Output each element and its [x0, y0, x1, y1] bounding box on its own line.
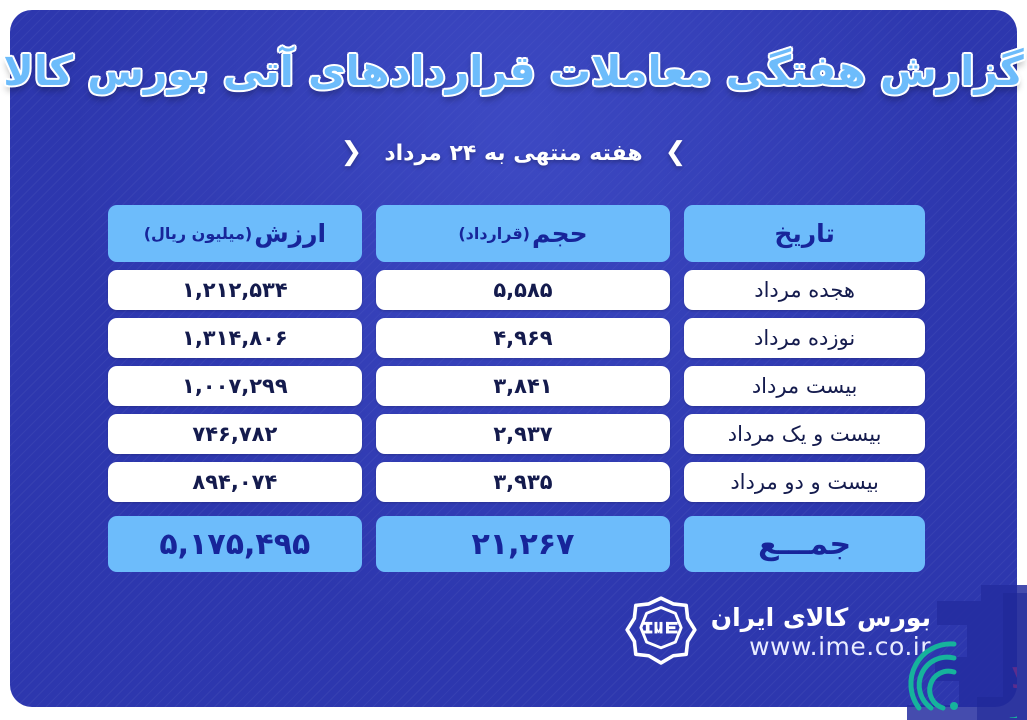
column-header-date: تاریخ: [684, 205, 925, 262]
column-header-value-unit: (میلیون ریال): [144, 224, 253, 243]
table-row: نوزده مرداد ۴,۹۶۹ ۱,۳۱۴,۸۰۶: [108, 318, 925, 358]
cell-value: ۷۴۶,۷۸۲: [108, 414, 362, 454]
cell-value: ۱,۳۱۴,۸۰۶: [108, 318, 362, 358]
cell-date: نوزده مرداد: [684, 318, 925, 358]
chevron-right-icon: ❯: [665, 139, 687, 165]
column-header-value: ارزش (میلیون ریال): [108, 205, 362, 262]
table-header-row: تاریخ حجم (قرارداد) ارزش (میلیون ریال): [108, 205, 925, 262]
report-table: تاریخ حجم (قرارداد) ارزش (میلیون ریال) ه…: [108, 205, 925, 572]
column-header-volume-unit: (قرارداد): [458, 224, 530, 243]
cell-value: ۸۹۴,۰۷۴: [108, 462, 362, 502]
footer-text-block: بورس کالای ایران www.ime.co.ir: [711, 603, 931, 662]
table-row: بیست مرداد ۳,۸۴۱ ۱,۰۰۷,۲۹۹: [108, 366, 925, 406]
page-subtitle: هفته منتهی به ۲۴ مرداد: [384, 141, 642, 166]
cell-date: بیست مرداد: [684, 366, 925, 406]
organization-name: بورس کالای ایران: [711, 603, 931, 633]
cell-date: بیست و دو مرداد: [684, 462, 925, 502]
cell-volume: ۲,۹۳۷: [376, 414, 671, 454]
cell-volume: ۳,۹۳۵: [376, 462, 671, 502]
cell-volume: ۴,۹۶۹: [376, 318, 671, 358]
total-volume: ۲۱,۲۶۷: [376, 516, 671, 572]
column-header-date-label: تاریخ: [774, 219, 835, 248]
website-url[interactable]: www.ime.co.ir: [711, 632, 931, 662]
cell-date: هجده مرداد: [684, 270, 925, 310]
cell-date: بیست و یک مرداد: [684, 414, 925, 454]
table-row: هجده مرداد ۵,۵۸۵ ۱,۲۱۲,۵۳۴: [108, 270, 925, 310]
infographic-canvas: گزارش هفتگی معاملات قراردادهای آتی بورس …: [0, 0, 1027, 720]
total-label: جمـــع: [684, 516, 925, 572]
cell-volume: ۵,۵۸۵: [376, 270, 671, 310]
column-header-value-label: ارزش: [254, 219, 326, 248]
cell-value: ۱,۲۱۲,۵۳۴: [108, 270, 362, 310]
title-container: گزارش هفتگی معاملات قراردادهای آتی بورس …: [0, 48, 1027, 95]
cell-value: ۱,۰۰۷,۲۹۹: [108, 366, 362, 406]
column-header-volume: حجم (قرارداد): [376, 205, 671, 262]
total-value: ۵,۱۷۵,۴۹۵: [108, 516, 362, 572]
cell-volume: ۳,۸۴۱: [376, 366, 671, 406]
column-header-volume-label: حجم: [532, 219, 588, 248]
page-title: گزارش هفتگی معاملات قراردادهای آتی بورس …: [3, 48, 1023, 95]
table-row: بیست و دو مرداد ۳,۹۳۵ ۸۹۴,۰۷۴: [108, 462, 925, 502]
table-total-row: جمـــع ۲۱,۲۶۷ ۵,۱۷۵,۴۹۵: [108, 516, 925, 572]
table-row: بیست و یک مرداد ۲,۹۳۷ ۷۴۶,۷۸۲: [108, 414, 925, 454]
chevron-left-icon: ❮: [341, 139, 363, 165]
footer: بورس کالای ایران www.ime.co.ir: [625, 596, 931, 668]
ime-logo-icon: [625, 596, 697, 668]
subtitle-container: ❯ هفته منتهی به ۲۴ مرداد ❮: [0, 140, 1027, 166]
